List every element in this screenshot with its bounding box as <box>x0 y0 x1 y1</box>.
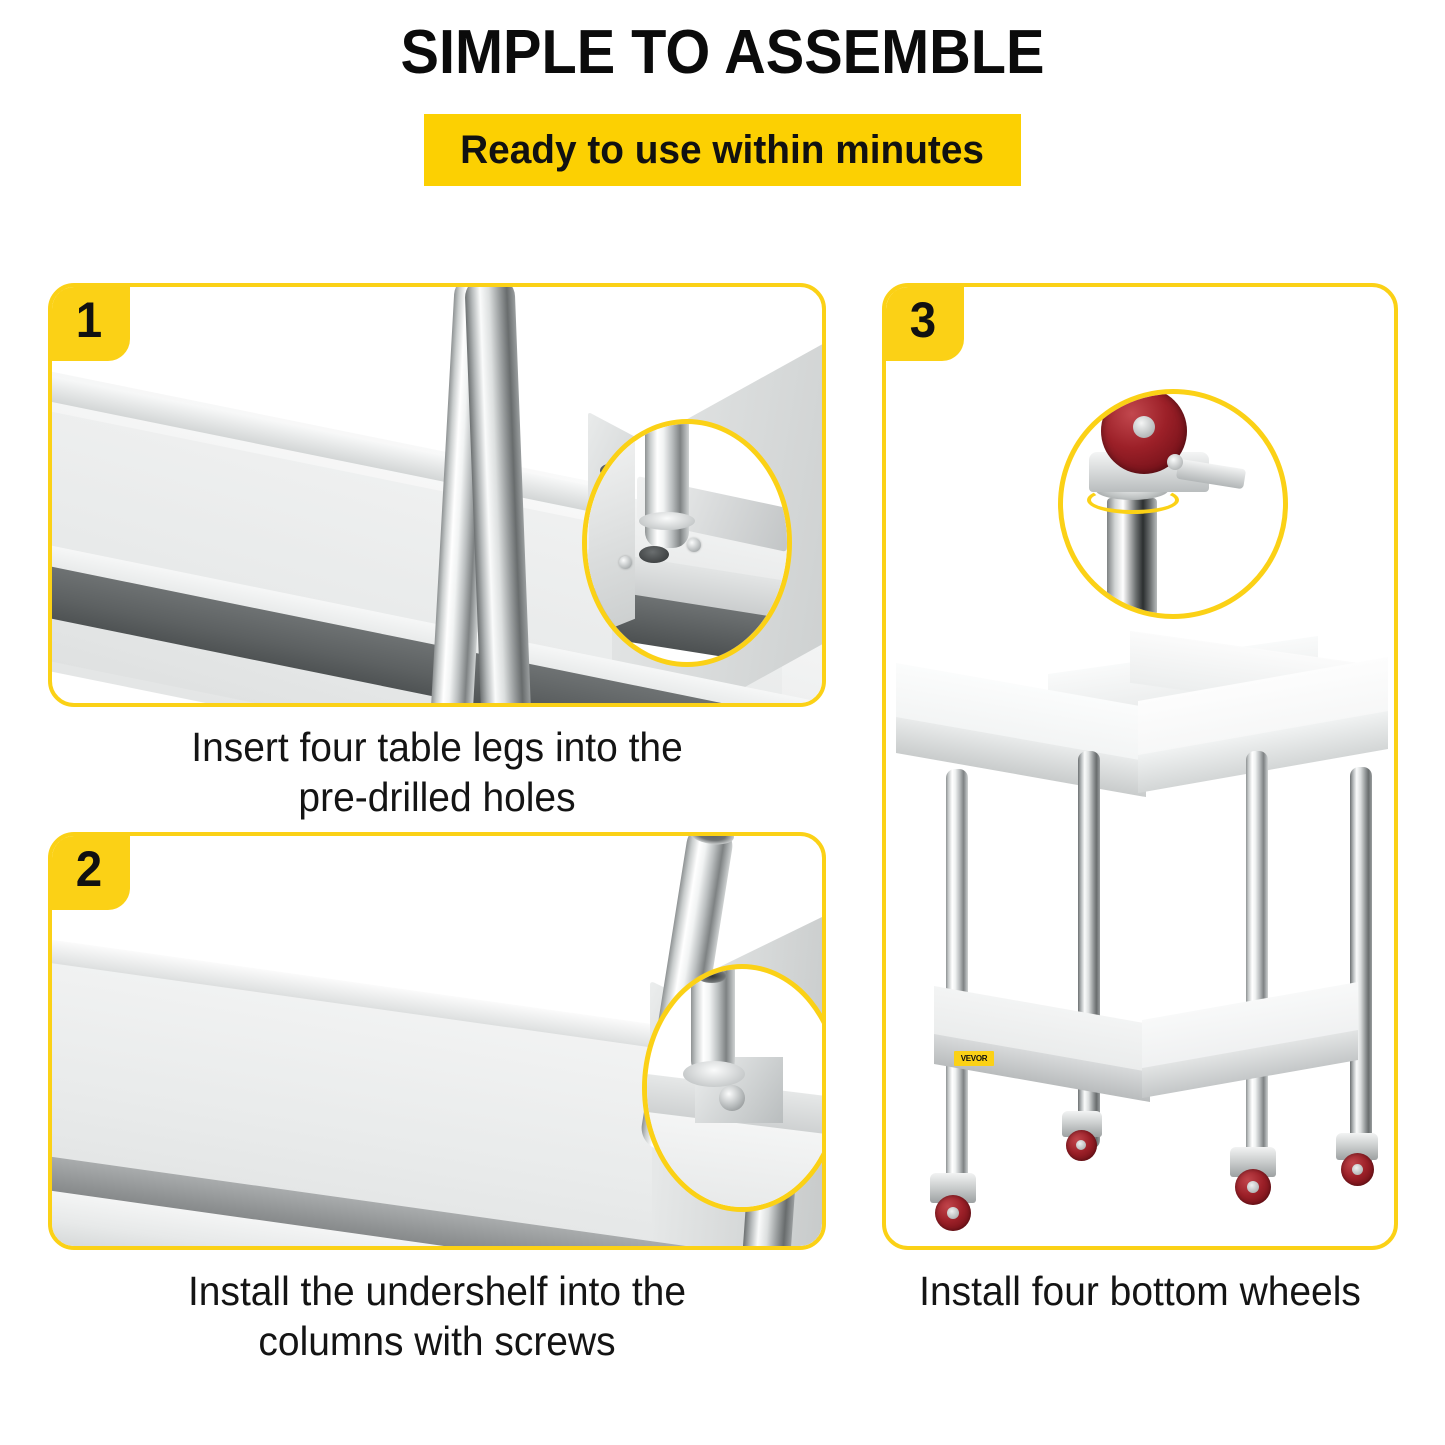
step-2-caption: Install the undershelf into the columns … <box>67 1266 806 1366</box>
step-3-detail-image <box>1059 390 1287 618</box>
detail-column-foot <box>683 1061 745 1087</box>
step-1-detail-callout <box>582 419 792 667</box>
detail-wheel-axle <box>1133 416 1155 438</box>
subtitle-text: Ready to use within minutes <box>461 128 985 173</box>
step-3-photo: VEVOR <box>886 287 1394 1246</box>
step-1-number-badge: 1 <box>48 283 130 361</box>
table-leg <box>1350 767 1372 1177</box>
table-leg <box>1246 751 1268 1187</box>
page-title: SIMPLE TO ASSEMBLE <box>51 22 1395 84</box>
step-1-detail-image <box>583 420 791 666</box>
step-3-caption: Install four bottom wheels <box>895 1266 1385 1316</box>
step-2-detail-callout <box>642 964 822 1212</box>
step-2-caption-line-2: columns with screws <box>67 1316 806 1366</box>
brand-badge: VEVOR <box>954 1051 994 1066</box>
step-2-photo <box>52 836 822 1246</box>
step-1-caption-line-2: pre-drilled holes <box>67 772 806 822</box>
caster-hub <box>947 1207 959 1219</box>
step-3-number-badge: 3 <box>882 283 964 361</box>
caster-hub <box>1076 1140 1086 1150</box>
step-2-number: 2 <box>76 844 102 894</box>
step-1-number: 1 <box>76 295 102 345</box>
detail-leg-column <box>1107 498 1157 618</box>
subtitle-badge: Ready to use within minutes <box>424 114 1021 186</box>
step-2-panel: 2 <box>48 832 826 1250</box>
step-1-photo <box>52 287 822 703</box>
step-2-number-badge: 2 <box>48 832 130 910</box>
step-2-caption-line-1: Install the undershelf into the <box>67 1266 806 1316</box>
detail-brake-pivot <box>1167 454 1183 470</box>
detail-screw <box>687 538 701 552</box>
step-3-caption-line-1: Install four bottom wheels <box>895 1266 1385 1316</box>
step-1-caption: Insert four table legs into the pre-dril… <box>67 722 806 822</box>
step-1-panel: 1 <box>48 283 826 707</box>
detail-screw <box>619 556 632 569</box>
brand-label: VEVOR <box>961 1054 988 1063</box>
step-3-detail-callout <box>1058 389 1288 619</box>
infographic-root: SIMPLE TO ASSEMBLE Ready to use within m… <box>0 0 1445 1445</box>
detail-side-rail <box>589 429 635 638</box>
detail-pre-drilled-hole <box>639 546 669 563</box>
swivel-direction-arrow <box>1087 486 1179 514</box>
detail-column-opening <box>697 969 727 983</box>
column-open-end <box>687 836 736 847</box>
detail-fastening-screw <box>719 1085 745 1111</box>
step-3-number: 3 <box>910 295 936 345</box>
assembled-table: VEVOR <box>890 633 1394 1246</box>
detail-leg-collar <box>639 512 695 530</box>
caster-hub <box>1247 1181 1259 1193</box>
step-2-detail-image <box>643 965 822 1211</box>
step-3-panel: VEVOR <box>882 283 1398 1250</box>
step-1-caption-line-1: Insert four table legs into the <box>67 722 806 772</box>
caster-hub <box>1352 1164 1363 1175</box>
